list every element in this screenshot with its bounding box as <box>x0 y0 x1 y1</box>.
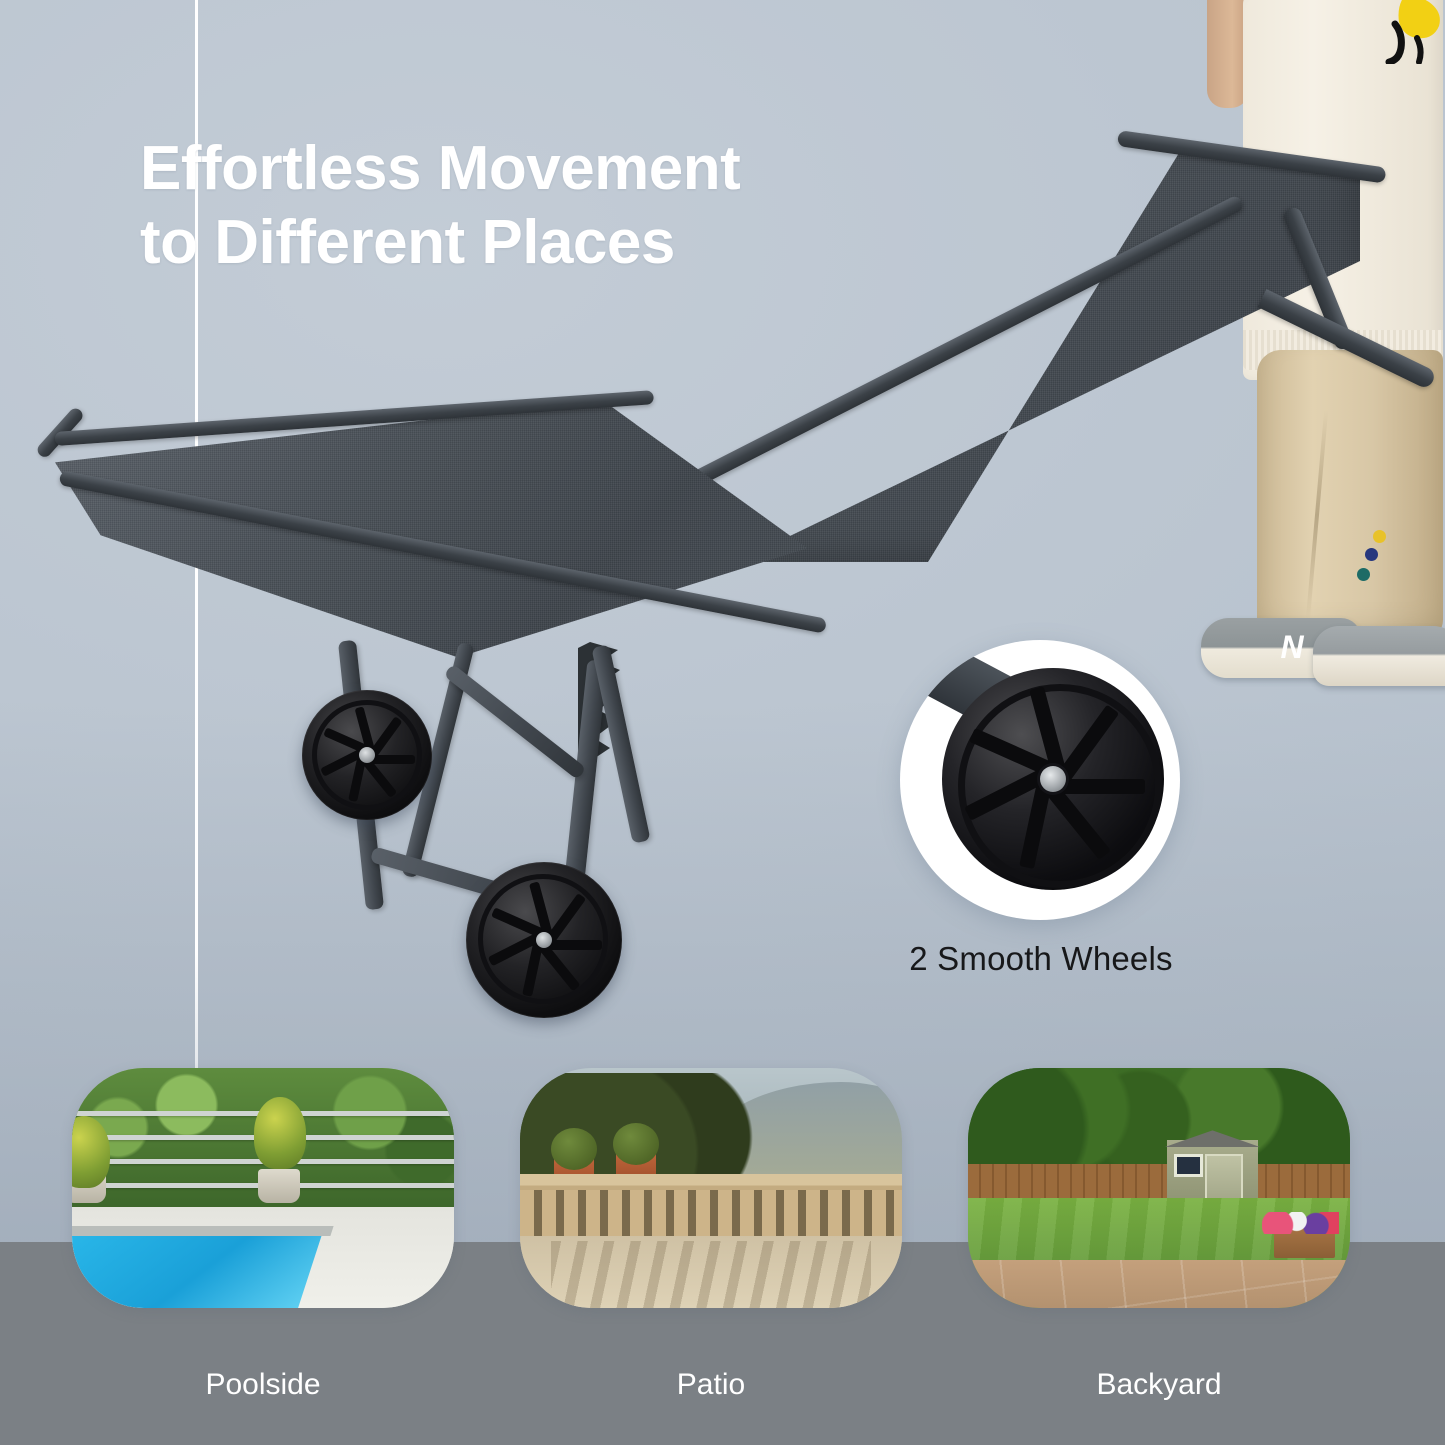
wheel-callout-label: 2 Smooth Wheels <box>866 940 1216 978</box>
pool-water <box>72 1236 321 1308</box>
backrest-arm-curve <box>1258 289 1438 390</box>
chaise-lounge <box>0 0 1445 1245</box>
thumbnail-label-patio: Patio <box>520 1368 902 1402</box>
flowers <box>1262 1212 1338 1234</box>
thumbnail-label-poolside: Poolside <box>72 1368 454 1402</box>
patio-joint-lines <box>968 1260 1350 1308</box>
patio-shadows <box>551 1241 872 1308</box>
balustrade-rail <box>520 1174 902 1246</box>
thumbnail-backyard[interactable] <box>968 1068 1350 1308</box>
product-feature-image: Effortless Movement to Different Places … <box>0 0 1445 1445</box>
shed-window <box>1174 1154 1203 1177</box>
wheel-rear <box>302 690 432 820</box>
wheel-callout-circle <box>900 640 1180 920</box>
wheel-front <box>466 862 622 1018</box>
seat-fabric <box>55 400 815 660</box>
thumbnail-poolside[interactable] <box>72 1068 454 1308</box>
topiary-right <box>613 1123 659 1165</box>
shrub-center <box>254 1097 306 1169</box>
pool-coping <box>72 1226 333 1236</box>
planter-center <box>258 1169 300 1203</box>
thumbnail-label-backyard: Backyard <box>968 1368 1350 1402</box>
backyard-trees <box>968 1068 1350 1178</box>
topiary-left <box>551 1128 597 1170</box>
wheel-icon <box>942 668 1164 890</box>
thumbnail-patio[interactable] <box>520 1068 902 1308</box>
